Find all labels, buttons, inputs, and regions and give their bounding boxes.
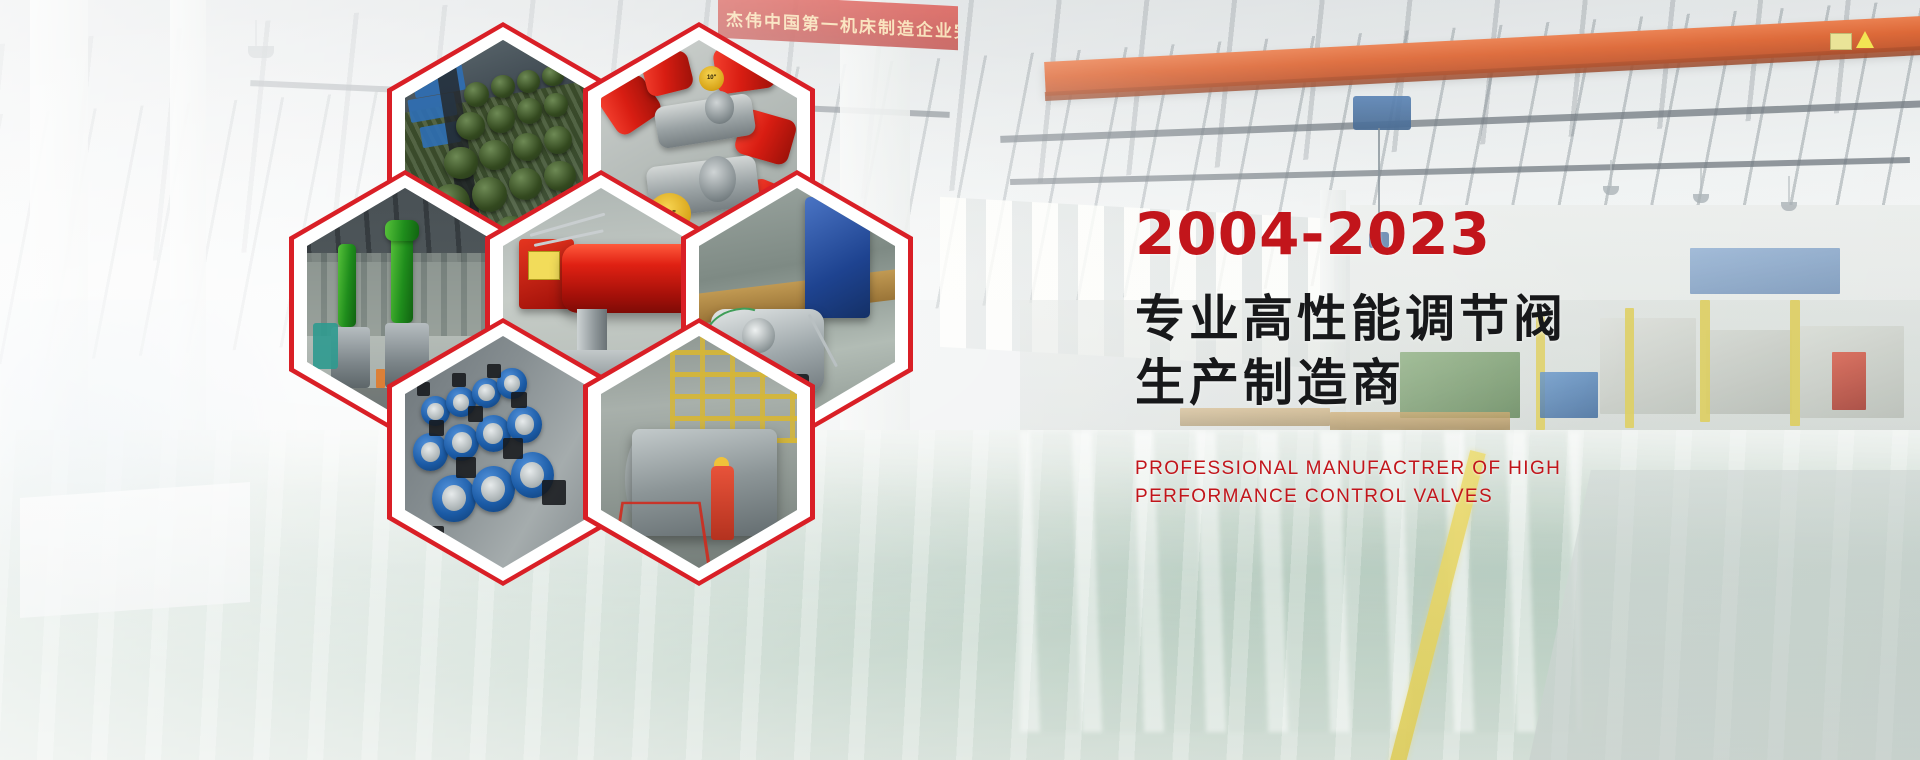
valve-handle [456, 457, 476, 478]
actuator-top [491, 75, 515, 98]
valve-handle [542, 480, 566, 506]
orange-cone [376, 369, 386, 388]
valve-flange [705, 91, 734, 123]
butterfly-valve [432, 475, 475, 521]
actuator-top [456, 112, 485, 140]
hexagon-photo-cluster: 10" 10" [255, 22, 815, 592]
actuator-top [544, 126, 571, 154]
valve-handle [503, 438, 523, 459]
valve-handle [511, 392, 527, 408]
actuator-top [513, 133, 542, 161]
actuator-top [542, 66, 564, 87]
red-actuator [640, 49, 695, 99]
actuator-top [464, 82, 489, 108]
valve-handle [417, 382, 431, 396]
subtitle-line-1: PROFESSIONAL MANUFACTRER OF HIGH [1135, 455, 1755, 483]
actuator-warning-label [528, 251, 559, 281]
green-valve-stem [391, 230, 413, 323]
actuator-top [544, 93, 568, 116]
actuator-top [517, 98, 542, 124]
blue-valve-actuator [805, 197, 870, 318]
large-machine-image [601, 336, 797, 568]
headline-line-2: 生产制造商 [1135, 351, 1755, 415]
red-support-frame [611, 502, 710, 565]
subtitle-block: PROFESSIONAL MANUFACTRER OF HIGH PERFORM… [1135, 455, 1755, 510]
actuator-top [509, 168, 542, 200]
actuator-top [444, 147, 477, 179]
worker [711, 466, 735, 540]
green-actuator-top [385, 220, 418, 241]
year-range: 2004-2023 [1135, 205, 1755, 263]
subtitle-line-2: PERFORMANCE CONTROL VALVES [1135, 483, 1755, 511]
valve-handle [429, 420, 445, 436]
butterfly-valves-image [405, 336, 601, 568]
valve-handle [468, 406, 484, 422]
green-valve-stem [338, 244, 356, 328]
valve-handle [452, 373, 466, 387]
pneumatic-cylinder [562, 244, 699, 314]
actuator-top [544, 161, 575, 191]
red-actuator [712, 41, 777, 95]
hero-text-block: 2004-2023 专业高性能调节阀 生产制造商 PROFESSIONAL MA… [1135, 205, 1755, 510]
actuator-top [487, 105, 514, 133]
teal-machine [313, 323, 338, 369]
valve-handle [421, 526, 445, 552]
hex-photo-large-machine [601, 336, 797, 568]
butterfly-valve [444, 424, 479, 461]
headline-line-1: 专业高性能调节阀 [1135, 287, 1755, 351]
butterfly-valve [413, 433, 448, 470]
butterfly-valve [472, 466, 515, 512]
hero-banner: 杰伟中国第一机床制造企业完成仪 [0, 0, 1920, 760]
actuator-top [517, 70, 541, 93]
valve-handle [487, 364, 501, 378]
actuator-top [472, 177, 507, 212]
hex-photo-butterfly-valves [405, 336, 601, 568]
actuator-top [479, 140, 510, 170]
